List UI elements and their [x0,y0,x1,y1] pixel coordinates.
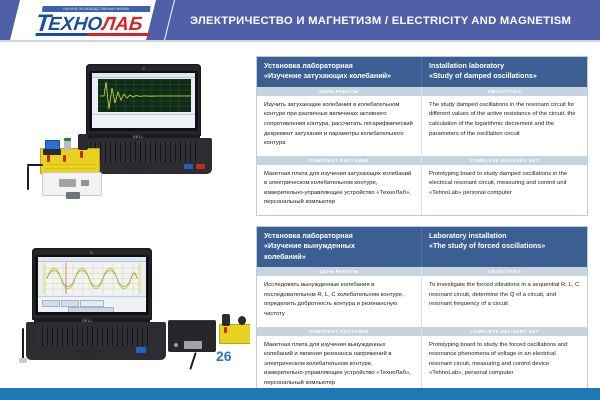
table1-section2-label-row: КОМПЛЕКТ ПОСТАВКИ COMPLETE DELIVERY SET [257,156,587,165]
table1-title-en-line2: «Study of damped oscillations» [429,71,580,81]
table1-title-en-line1: Installation laboratory [429,61,580,71]
table2-delivery-label-en: COMPLETE DELIVERY SET [422,327,587,336]
board1-coil [78,134,88,150]
table2-objectives-label-ru: ЦЕЛЬ РАБОТЫ [257,267,422,276]
table1-delivery-label-ru: КОМПЛЕКТ ПОСТАВКИ [257,156,422,165]
laptop1-keyboard [86,142,200,162]
table2-delivery-text-ru: Макетная плата для изучения вынужденных … [257,336,422,396]
table2-title-ru-line1: Установка лабораторная [264,231,414,241]
laptop1-oscilloscope-plot [98,79,191,112]
board1-silver-component [64,140,71,151]
laptop2-touchpad [74,349,102,355]
table1-title-ru-line2: «Изучение затухающих колебаний» [264,71,414,81]
laptop2-screen-controls [38,296,146,312]
spec-table-damped-oscillations: Установка лабораторная «Изучение затухаю… [256,56,588,216]
table1-objectives-label-ru: ЦЕЛЬ РАБОТЫ [257,87,422,96]
photo-damped-oscillations: DELL [16,52,250,210]
damped-waveform-svg [98,79,191,112]
laptop2-usb-cable [22,328,24,360]
logo-tagline-text: НАУЧНО-ПРОИЗВОДСТВЕННАЯ ФИРМА [63,7,129,11]
technolab-logo: НАУЧНО-ПРОИЗВОДСТВЕННАЯ ФИРМА Т ЕХНО ЛАБ [34,6,155,36]
table2-section1-label-row: ЦЕЛЬ РАБОТЫ OBJECTIVES [257,267,587,276]
table1-title-ru: Установка лабораторная «Изучение затухаю… [257,57,422,87]
logo-wordmark: Т ЕХНО ЛАБ [35,13,155,35]
table1-delivery-label-en: COMPLETE DELIVERY SET [422,156,587,165]
sine-waveform-svg [43,263,141,294]
spec-table-forced-oscillations: Установка лабораторная «Изучение вынужде… [256,226,588,396]
board1-red-terminal-2 [63,155,66,162]
board2-knob [238,316,246,325]
table2-section2-body-row: Макетная плата для изучения вынужденных … [257,336,587,396]
laptop2-oscilloscope-plot [43,263,141,294]
board1-black-block [43,149,61,155]
table2-delivery-label-ru: КОМПЛЕКТ ПОСТАВКИ [257,327,422,336]
logo-underline-bar [35,33,149,36]
laptop1-sticker-red [196,164,205,169]
unit1-db-connector [59,179,76,187]
table1-section1-label-row: ЦЕЛЬ РАБОТЫ OBJECTIVES [257,87,587,96]
unit1-port [81,180,89,186]
table1-objectives-text-en: The study damped oscillations in the res… [422,96,587,156]
table2-title-en-line2: «The study of forced oscillations» [429,241,580,251]
laptop2-keyboard [38,327,150,346]
table1-title-ru-line1: Установка лабораторная [264,61,414,71]
measuring-control-unit-2 [168,320,216,352]
board1-trace-a [45,164,95,165]
laptop2-usb-plug [19,358,27,363]
unit2-db-connector [184,341,202,349]
logo-text-red: ЛАБ [101,15,143,34]
table1-header-row: Установка лабораторная «Изучение затухаю… [257,57,587,87]
table1-section2-body-row: Макетная плата для изучения затухающих к… [257,165,587,215]
table1-title-en: Installation laboratory «Study of damped… [422,57,587,87]
unit1-bottom-plug [66,192,80,199]
table2-header-row: Установка лабораторная «Изучение вынужде… [257,227,587,267]
laptop1-screen [92,73,195,128]
laptop2-webcam-icon [90,251,93,254]
laptop1-screen-titlebar [92,73,195,78]
laptop2-brand-logo: DELL [82,319,93,323]
board1-red-terminal-1 [47,155,50,162]
laptop1-touchpad [124,164,150,170]
board2-coil [222,314,230,326]
table1-delivery-text-ru: Макетная плата для изучения затухающих к… [257,165,422,215]
table1-objectives-label-en: OBJECTIVES [422,87,587,96]
table2-section2-label-row: КОМПЛЕКТ ПОСТАВКИ COMPLETE DELIVERY SET [257,327,587,336]
table2-title-ru: Установка лабораторная «Изучение вынужде… [257,227,422,267]
photo-forced-oscillations: DELL 26 [16,228,250,386]
table1-objectives-text-ru: Изучить затухающие колебания в колебател… [257,96,422,156]
page-footer-bar [0,388,600,400]
table2-title-ru-line2: «Изучение вынужденных [264,241,414,251]
table2-title-en: Laboratory installation «The study of fo… [422,227,587,267]
table2-objectives-label-en: OBJECTIVES [422,267,587,276]
laptop1-webcam-icon [142,67,145,70]
unit1-cable-left [27,166,29,190]
table2-title-en-line1: Laboratory installation [429,231,580,241]
logo-tagline-bar: НАУЧНО-ПРОИЗВОДСТВЕННАЯ ФИРМА [42,6,151,12]
laptop1-brand-logo: DELL [133,135,144,139]
laptop1-screen-controls [92,114,195,128]
unit2-cable [189,352,196,370]
unit1-cable-loop [27,164,43,166]
table2-delivery-text-en: Prototyping board to study the forced os… [422,336,587,396]
laptop1-sticker-blue [184,164,193,169]
laptop2-screen-titlebar [38,257,146,262]
catalog-page: ЭЛЕКТРИЧЕСТВО И МАГНЕТИЗМ / ELECTRICITY … [0,0,600,400]
laptop2-screen [38,257,146,312]
board1-trace-b [45,168,95,169]
board1-red-terminal-3 [80,151,83,158]
laptop2-sticker-blue [136,347,146,353]
logo-text-blue: ЕХНО [47,15,103,34]
page-number: 26 [216,348,232,364]
table1-section1-body-row: Изучить затухающие колебания в колебател… [257,96,587,156]
unit2-led [174,343,178,347]
board2-red-terminal [224,327,227,333]
table2-objectives-text-ru: Исследовать вынужденные колебания в посл… [257,276,422,326]
table2-section1-body-row: Исследовать вынужденные колебания в посл… [257,276,587,326]
header-underline [0,40,600,42]
table2-title-ru-line3: колебаний» [264,252,414,262]
table2-objectives-text-en: To investigate the forced vibrations in … [422,276,587,326]
page-title: ЭЛЕКТРИЧЕСТВО И МАГНЕТИЗМ / ELECTRICITY … [190,0,590,42]
board1-green-component [64,138,71,141]
table1-delivery-text-en: Prototyping board to study damped oscill… [422,165,587,215]
